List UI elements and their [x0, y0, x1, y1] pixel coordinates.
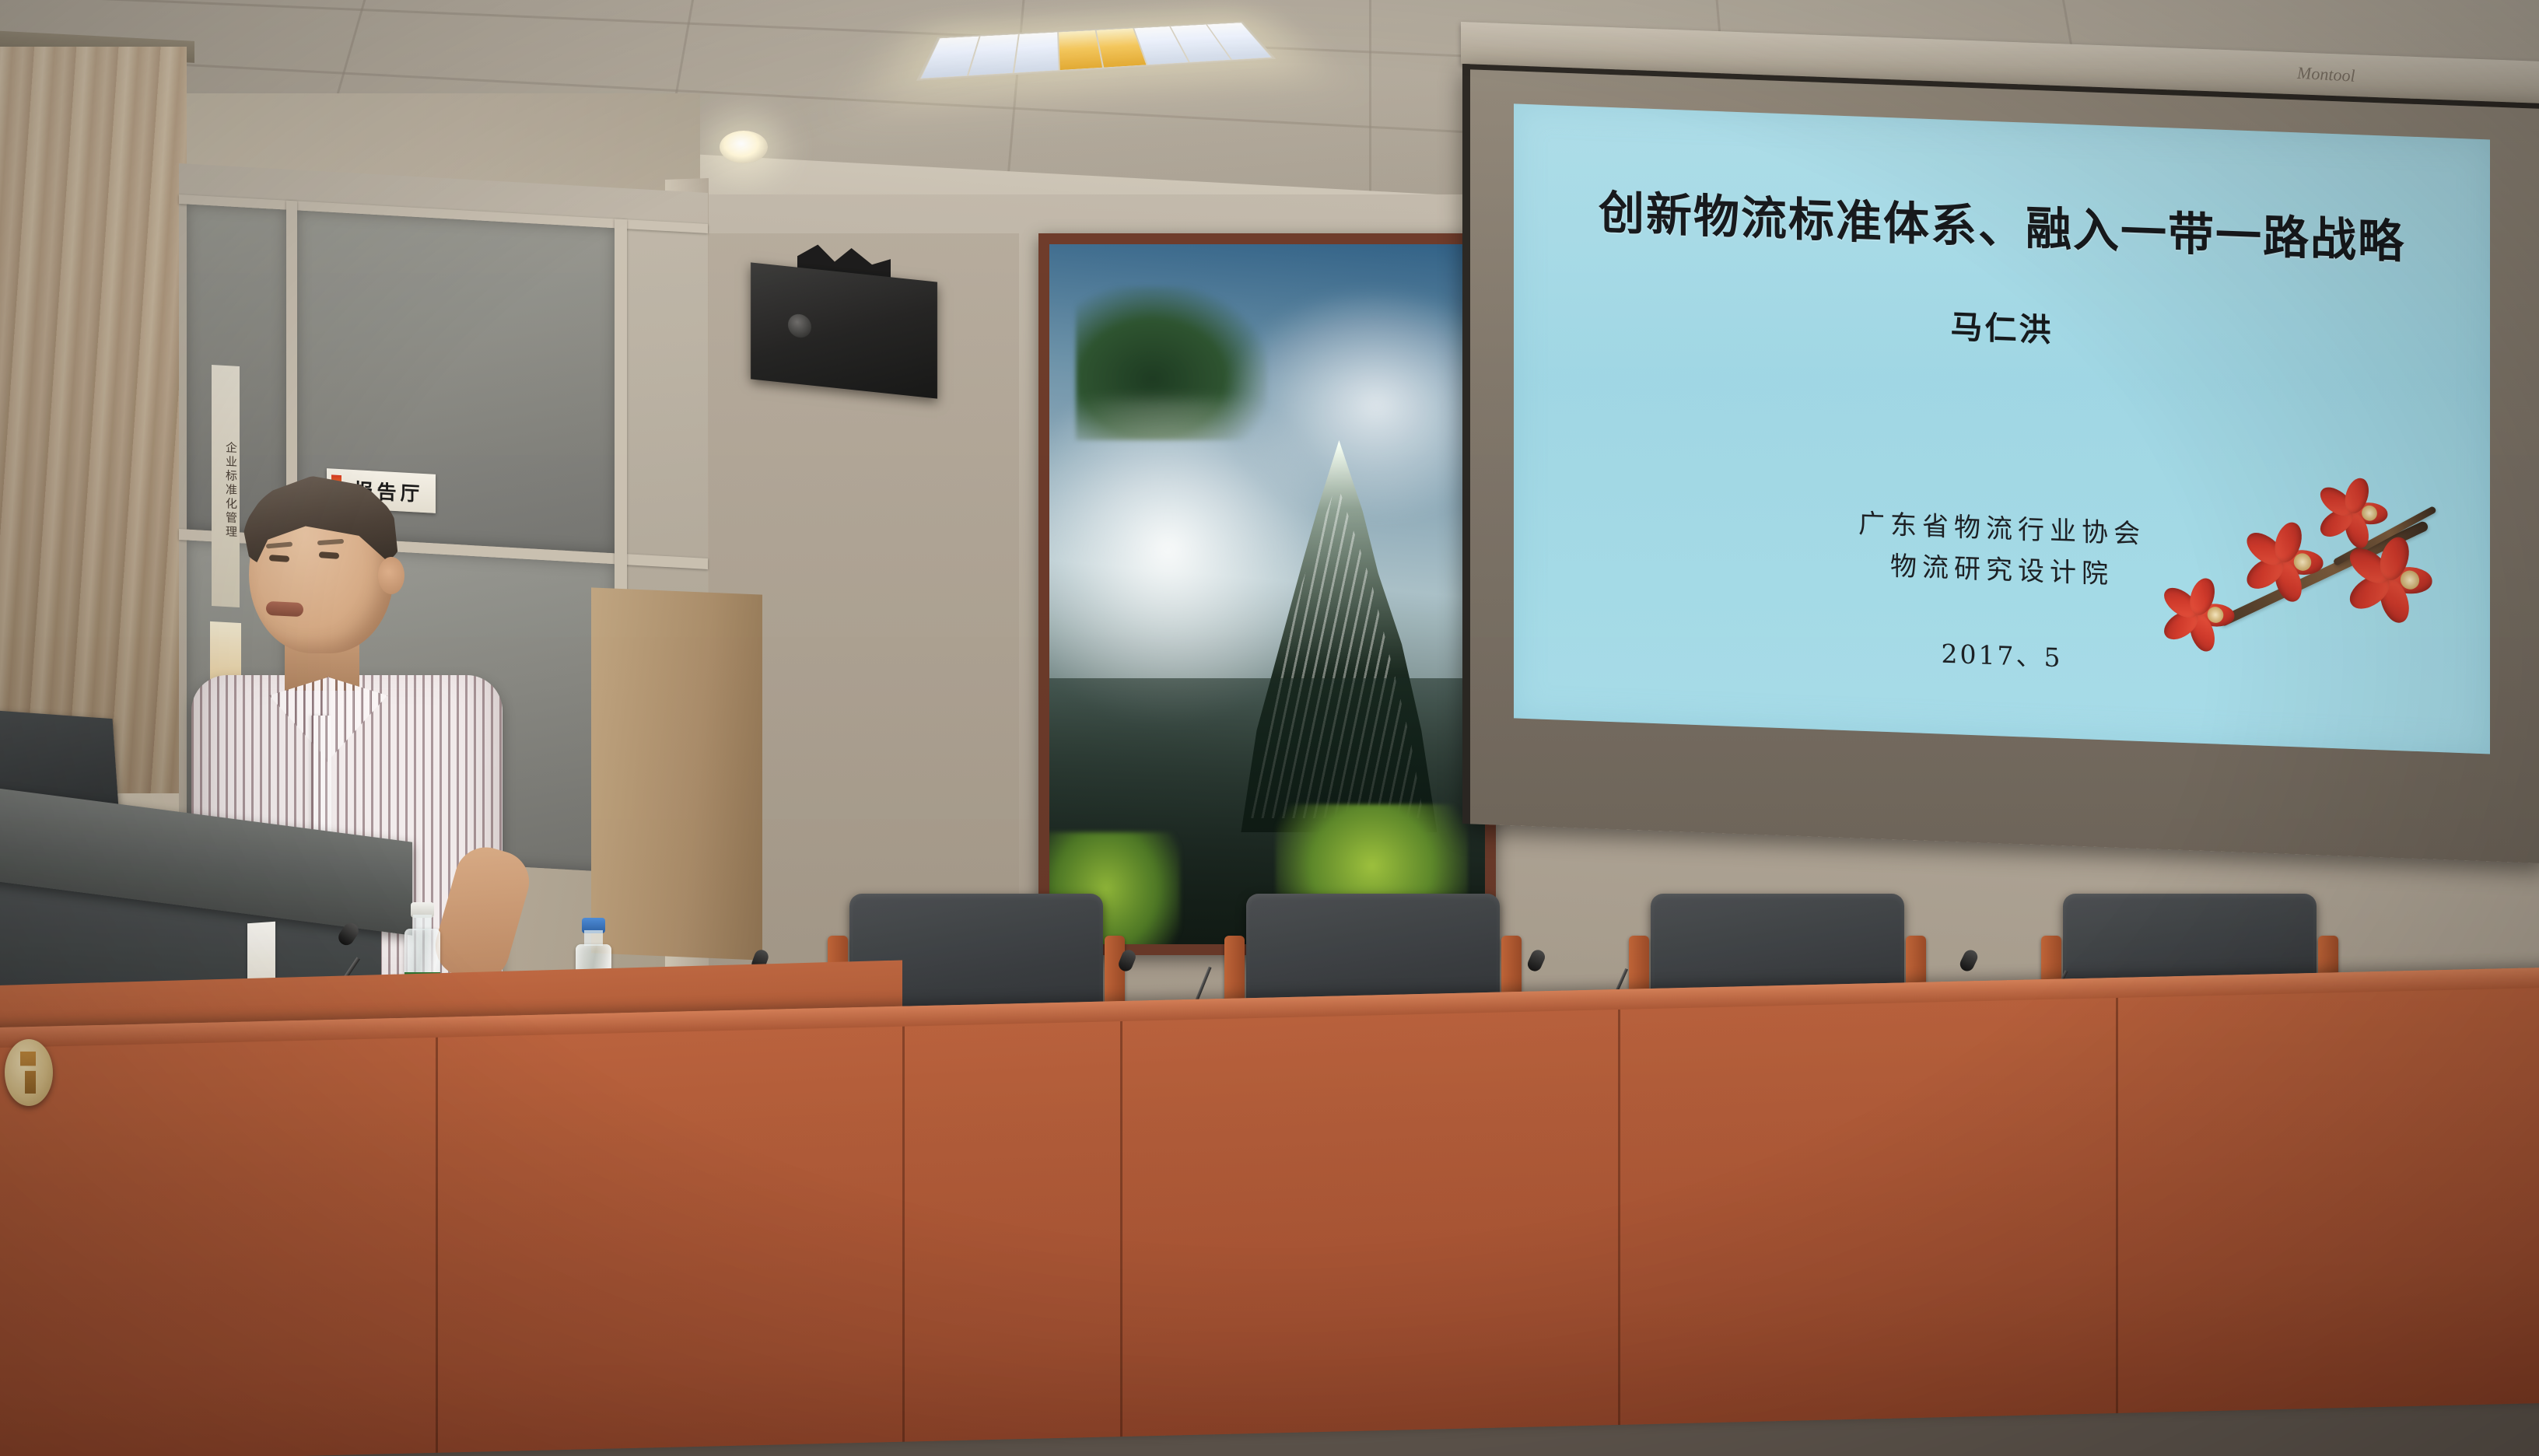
presenter-eye	[269, 555, 289, 562]
presenter-eye	[319, 551, 339, 559]
projector-brand-label: Montool	[2297, 63, 2355, 86]
presentation-slide: 创新物流标准体系、融入一带一路战略 马仁洪 广东省物流行业协会 物流研究设计院 …	[1514, 103, 2490, 754]
bottle-neck	[413, 915, 432, 930]
presenter-ear	[378, 557, 404, 594]
slide-author: 马仁洪	[1514, 284, 2490, 366]
door-frame	[591, 587, 762, 960]
slide-title: 创新物流标准体系、融入一带一路战略	[1514, 172, 2490, 274]
microphone-head	[1958, 947, 1980, 973]
podium-medallion	[5, 1039, 53, 1106]
downlight-icon	[720, 131, 768, 163]
kapok-flower-icon	[2162, 434, 2490, 680]
painting-mist-upper	[1224, 286, 1496, 524]
projection-screen: 创新物流标准体系、融入一带一路战略 马仁洪 广东省物流行业协会 物流研究设计院 …	[1462, 64, 2539, 863]
stage-table	[0, 967, 2539, 1456]
wall-painting	[1038, 233, 1496, 955]
painting-canvas	[1049, 244, 1485, 944]
bottle-neck	[584, 930, 603, 946]
presenter-mouth	[266, 601, 304, 617]
blossom	[2365, 534, 2453, 626]
blossom	[2177, 576, 2254, 654]
microphone-head	[1525, 948, 1547, 974]
wall-speaker-icon	[751, 262, 937, 398]
conference-room-photo: 企业标准化管理 报告厅 Montool 创新物流标准体系、融入一带一路战略 马仁…	[0, 0, 2539, 1456]
speaker-cone	[788, 313, 811, 338]
window-curtain	[0, 47, 187, 793]
